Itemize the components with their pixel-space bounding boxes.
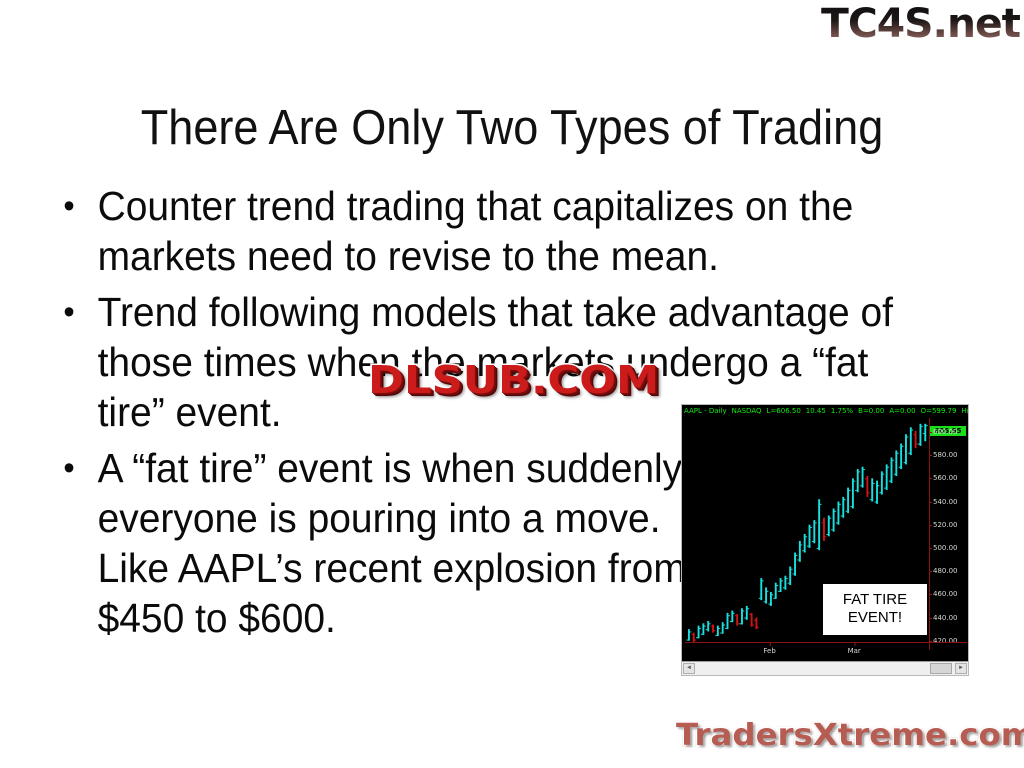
candlestick-open-tick: [831, 529, 833, 530]
candlestick-close-tick: [704, 626, 706, 627]
candlestick-open-tick: [797, 560, 799, 561]
quote-last: L=606.50: [767, 407, 801, 415]
candlestick-close-tick: [762, 580, 764, 581]
candlestick-bar: [818, 499, 820, 550]
quote-change-percent: 1.75%: [831, 407, 853, 415]
candlestick-bar: [794, 553, 796, 576]
candlestick-open-tick: [793, 573, 795, 574]
candlestick-open-tick: [701, 634, 703, 635]
price-axis-tick: 480.00: [933, 567, 958, 575]
candlestick-close-tick: [699, 628, 701, 629]
candlestick-bar: [765, 587, 767, 603]
candlestick-close-tick: [733, 613, 735, 614]
candlestick-open-tick: [904, 462, 906, 463]
candlestick-close-tick: [834, 511, 836, 512]
candlestick-close-tick: [796, 555, 798, 556]
candlestick-bar: [866, 476, 868, 497]
quote-exchange: NASDAQ: [732, 407, 762, 415]
candlestick-bar: [775, 583, 777, 599]
candlestick-open-tick: [807, 546, 809, 547]
candlestick-open-tick: [778, 591, 780, 592]
price-axis-tick: 560.00: [933, 474, 958, 482]
candlestick-bar: [688, 629, 690, 641]
page-title: There Are Only Two Types of Trading: [41, 99, 983, 157]
quote-high: Hi=607.15: [961, 407, 969, 415]
bullet-marker: •: [63, 181, 74, 231]
candlestick-bar: [693, 633, 695, 642]
candlestick-close-tick: [781, 580, 783, 581]
candlestick-open-tick: [875, 502, 877, 503]
candlestick-close-tick: [892, 460, 894, 461]
candlestick-close-tick: [830, 518, 832, 519]
chart-quote-bar: AAPL - DailyNASDAQL=606.5010.451.75%B=0.…: [684, 406, 969, 417]
candlestick-open-tick: [788, 583, 790, 584]
candlestick-bar: [698, 626, 700, 639]
candlestick-open-tick: [822, 522, 824, 523]
price-axis-tick: 460.00: [933, 590, 958, 598]
candlestick-bar: [862, 467, 864, 488]
candlestick-open-tick: [923, 433, 925, 434]
candlestick-bar: [910, 427, 912, 455]
candlestick-close-tick: [878, 485, 880, 486]
tradersxtreme-watermark: TradersXtreme.com: [676, 718, 1024, 754]
candlestick-open-tick: [749, 614, 751, 615]
candlestick-close-tick: [887, 467, 889, 468]
candlestick-close-tick: [743, 611, 745, 612]
candlestick-close-tick: [776, 585, 778, 586]
candlestick-close-tick: [854, 481, 856, 482]
candlestick-bar: [804, 534, 806, 553]
candlestick-open-tick: [918, 444, 920, 445]
callout-line-2: EVENT!: [827, 609, 923, 627]
candlestick-bar: [751, 613, 753, 627]
candlestick-bar: [746, 606, 748, 620]
candlestick-bar: [881, 471, 883, 494]
price-axis: 606.95 600.00580.00560.00540.00520.00500…: [929, 418, 966, 650]
chart-horizontal-scrollbar[interactable]: ◄ ►: [682, 661, 968, 675]
candlestick-close-tick: [791, 569, 793, 570]
candlestick-bar: [755, 618, 757, 630]
candlestick-close-tick: [873, 483, 875, 484]
candlestick-open-tick: [754, 620, 756, 621]
candlestick-open-tick: [759, 598, 761, 599]
candlestick-close-tick: [921, 426, 923, 427]
candlestick-close-tick: [805, 536, 807, 537]
time-axis-tick: Mar: [848, 647, 861, 656]
candlestick-bar: [799, 541, 801, 562]
candlestick-close-tick: [728, 615, 730, 616]
candlestick-open-tick: [691, 634, 693, 635]
candlestick-open-tick: [879, 492, 881, 493]
candlestick-close-tick: [825, 536, 827, 537]
candlestick-close-tick: [748, 608, 750, 609]
candlestick-open-tick: [735, 615, 737, 616]
candlestick-close-tick: [757, 627, 759, 628]
scrollbar-thumb[interactable]: [930, 663, 952, 674]
candlestick-bar: [857, 469, 859, 492]
list-item: • A “fat tire” event is when suddenly ev…: [52, 443, 725, 643]
candlestick-open-tick: [855, 490, 857, 491]
candlestick-open-tick: [846, 511, 848, 512]
price-axis-tick: 440.00: [933, 614, 958, 622]
candlestick-bar: [828, 515, 830, 536]
candlestick-close-tick: [849, 490, 851, 491]
candlestick-open-tick: [865, 478, 867, 479]
candlestick-close-tick: [709, 623, 711, 624]
candlestick-close-tick: [690, 631, 692, 632]
candlestick-open-tick: [817, 548, 819, 549]
candlestick-bar: [731, 611, 733, 623]
candlestick-bar: [712, 624, 714, 632]
candlestick-bar: [919, 424, 921, 446]
quote-change: 10.45: [806, 407, 826, 415]
bullet-marker: •: [63, 443, 74, 493]
candlestick-bar: [741, 608, 743, 624]
candlestick-open-tick: [764, 601, 766, 602]
time-axis-tick: Feb: [763, 647, 775, 656]
price-axis-tick: 500.00: [933, 544, 958, 552]
candlestick-close-tick: [883, 474, 885, 475]
candlestick-open-tick: [725, 628, 727, 629]
scroll-left-arrow-icon[interactable]: ◄: [683, 663, 695, 674]
list-item-text: Counter trend trading that capitalizes o…: [98, 183, 854, 279]
candlestick-open-tick: [696, 637, 698, 638]
candlestick-bar: [900, 444, 902, 470]
candlestick-bar: [886, 464, 888, 490]
candlestick-close-tick: [868, 492, 870, 493]
candlestick-bar: [813, 520, 815, 543]
candlestick-close-tick: [810, 527, 812, 528]
list-item: • Counter trend trading that capitalizes…: [52, 181, 928, 281]
candlestick-bar: [915, 431, 917, 448]
candlestick-close-tick: [772, 594, 774, 595]
quote-bid: B=0.00: [858, 407, 884, 415]
candlestick-bar: [707, 621, 709, 631]
candlestick-open-tick: [850, 506, 852, 507]
candlestick-close-tick: [839, 504, 841, 505]
candlestick-open-tick: [860, 485, 862, 486]
candlestick-open-tick: [686, 640, 688, 641]
candlestick-open-tick: [913, 434, 915, 435]
candlestick-open-tick: [715, 635, 717, 636]
fat-tire-event-callout: FAT TIRE EVENT!: [822, 583, 928, 636]
candlestick-bar: [780, 578, 782, 592]
time-axis: FebMar: [685, 642, 967, 659]
candlestick-close-tick: [786, 578, 788, 579]
candlestick-close-tick: [752, 624, 754, 625]
candlestick-bar: [736, 614, 738, 626]
candlestick-bar: [770, 592, 772, 606]
bullet-marker: •: [63, 287, 74, 337]
candlestick-close-tick: [926, 425, 928, 426]
candlestick-bar: [847, 488, 849, 514]
candlestick-open-tick: [812, 541, 814, 542]
price-axis-tick: 600.00: [933, 428, 958, 436]
candlestick-open-tick: [740, 623, 742, 624]
candlestick-bar: [722, 622, 724, 634]
candlestick-bar: [784, 576, 786, 590]
candlestick-close-tick: [907, 437, 909, 438]
callout-line-1: FAT TIRE: [827, 591, 923, 609]
quote-symbol: AAPL - Daily: [684, 407, 727, 415]
candlestick-open-tick: [894, 474, 896, 475]
candlestick-close-tick: [801, 544, 803, 545]
candlestick-open-tick: [908, 453, 910, 454]
candlestick-close-tick: [902, 446, 904, 447]
candlestick-close-tick: [897, 453, 899, 454]
candlestick-open-tick: [711, 626, 713, 627]
candlestick-bar: [842, 497, 844, 518]
candlestick-close-tick: [694, 640, 696, 641]
price-axis-tick: 520.00: [933, 521, 958, 529]
candlestick-bar: [809, 525, 811, 548]
scroll-right-arrow-icon[interactable]: ►: [955, 663, 967, 674]
candlestick-bar: [895, 450, 897, 476]
candlestick-bar: [852, 478, 854, 508]
candlestick-bar: [876, 481, 878, 504]
candlestick-close-tick: [863, 469, 865, 470]
candlestick-bar: [760, 578, 762, 600]
candlestick-bar: [702, 623, 704, 635]
candlestick-open-tick: [783, 587, 785, 588]
price-axis-tick: 540.00: [933, 498, 958, 506]
candlestick-open-tick: [744, 618, 746, 619]
candlestick-open-tick: [706, 629, 708, 630]
candlestick-close-tick: [820, 504, 822, 505]
tc4s-watermark: TC4S.net: [821, 2, 1020, 46]
candlestick-bar: [823, 518, 825, 541]
candlestick-open-tick: [802, 550, 804, 551]
candlestick-close-tick: [714, 630, 716, 631]
candlestick-open-tick: [768, 604, 770, 605]
candlestick-close-tick: [719, 628, 721, 629]
candlestick-open-tick: [836, 522, 838, 523]
candlestick-bar: [789, 566, 791, 585]
candlestick-close-tick: [723, 624, 725, 625]
candlestick-bar: [924, 424, 926, 441]
dlsub-watermark: DLSUB.COM: [368, 358, 659, 402]
list-item-text: A “fat tire” event is when suddenly ever…: [98, 445, 686, 641]
candlestick-open-tick: [884, 488, 886, 489]
candlestick-bar: [837, 502, 839, 525]
candlestick-open-tick: [773, 598, 775, 599]
candlestick-open-tick: [826, 534, 828, 535]
candlestick-bar: [905, 434, 907, 464]
candlestick-open-tick: [889, 481, 891, 482]
candlestick-close-tick: [767, 591, 769, 592]
candlestick-open-tick: [720, 633, 722, 634]
candlestick-close-tick: [916, 444, 918, 445]
price-axis-tick: 580.00: [933, 451, 958, 459]
candlestick-close-tick: [738, 623, 740, 624]
candlestick-open-tick: [841, 515, 843, 516]
candlestick-open-tick: [899, 467, 901, 468]
quote-ask: A=0.00: [889, 407, 915, 415]
candlestick-bar: [871, 478, 873, 501]
candlestick-close-tick: [815, 522, 817, 523]
candlestick-bar: [891, 457, 893, 483]
candlestick-bar: [717, 626, 719, 636]
stock-chart-widget[interactable]: AAPL - DailyNASDAQL=606.5010.451.75%B=0.…: [681, 404, 969, 676]
candlestick-close-tick: [844, 499, 846, 500]
candlestick-close-tick: [912, 430, 914, 431]
quote-open: O=599.79: [921, 407, 957, 415]
candlestick-open-tick: [730, 621, 732, 622]
candlestick-close-tick: [858, 471, 860, 472]
candlestick-bar: [833, 508, 835, 531]
candlestick-open-tick: [870, 499, 872, 500]
candlestick-bar: [727, 613, 729, 629]
